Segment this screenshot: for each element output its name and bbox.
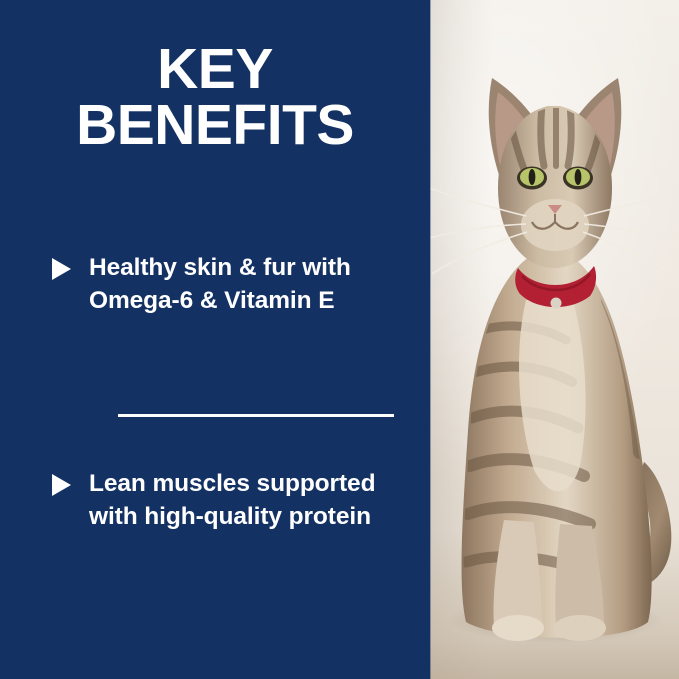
- cat-paw-left: [492, 615, 544, 641]
- page-title: KEY BENEFITS: [0, 42, 430, 154]
- triangle-right-icon: [52, 258, 71, 280]
- triangle-right-icon: [52, 474, 71, 496]
- benefit-item-1: Healthy skin & fur with Omega-6 & Vitami…: [52, 252, 404, 318]
- panel-edge: [428, 0, 431, 679]
- cat-paw-right: [554, 615, 606, 641]
- cat-pupil-right: [575, 169, 582, 185]
- divider: [118, 414, 394, 417]
- cat-pupil-left: [529, 169, 536, 185]
- headline-line-2: BENEFITS: [0, 98, 430, 154]
- product-benefits-graphic: KEY BENEFITS Healthy skin & fur with Ome…: [0, 0, 679, 679]
- benefit-item-2-label: Lean muscles supported with high-quality…: [89, 468, 404, 534]
- cat-illustration: [430, 0, 679, 679]
- key-benefits-panel: KEY BENEFITS Healthy skin & fur with Ome…: [0, 0, 430, 679]
- headline-line-1: KEY: [157, 37, 273, 101]
- benefit-item-1-label: Healthy skin & fur with Omega-6 & Vitami…: [89, 252, 404, 318]
- benefit-item-2: Lean muscles supported with high-quality…: [52, 468, 404, 534]
- cat-collar-tag: [551, 298, 562, 309]
- cat-photo: [430, 0, 679, 679]
